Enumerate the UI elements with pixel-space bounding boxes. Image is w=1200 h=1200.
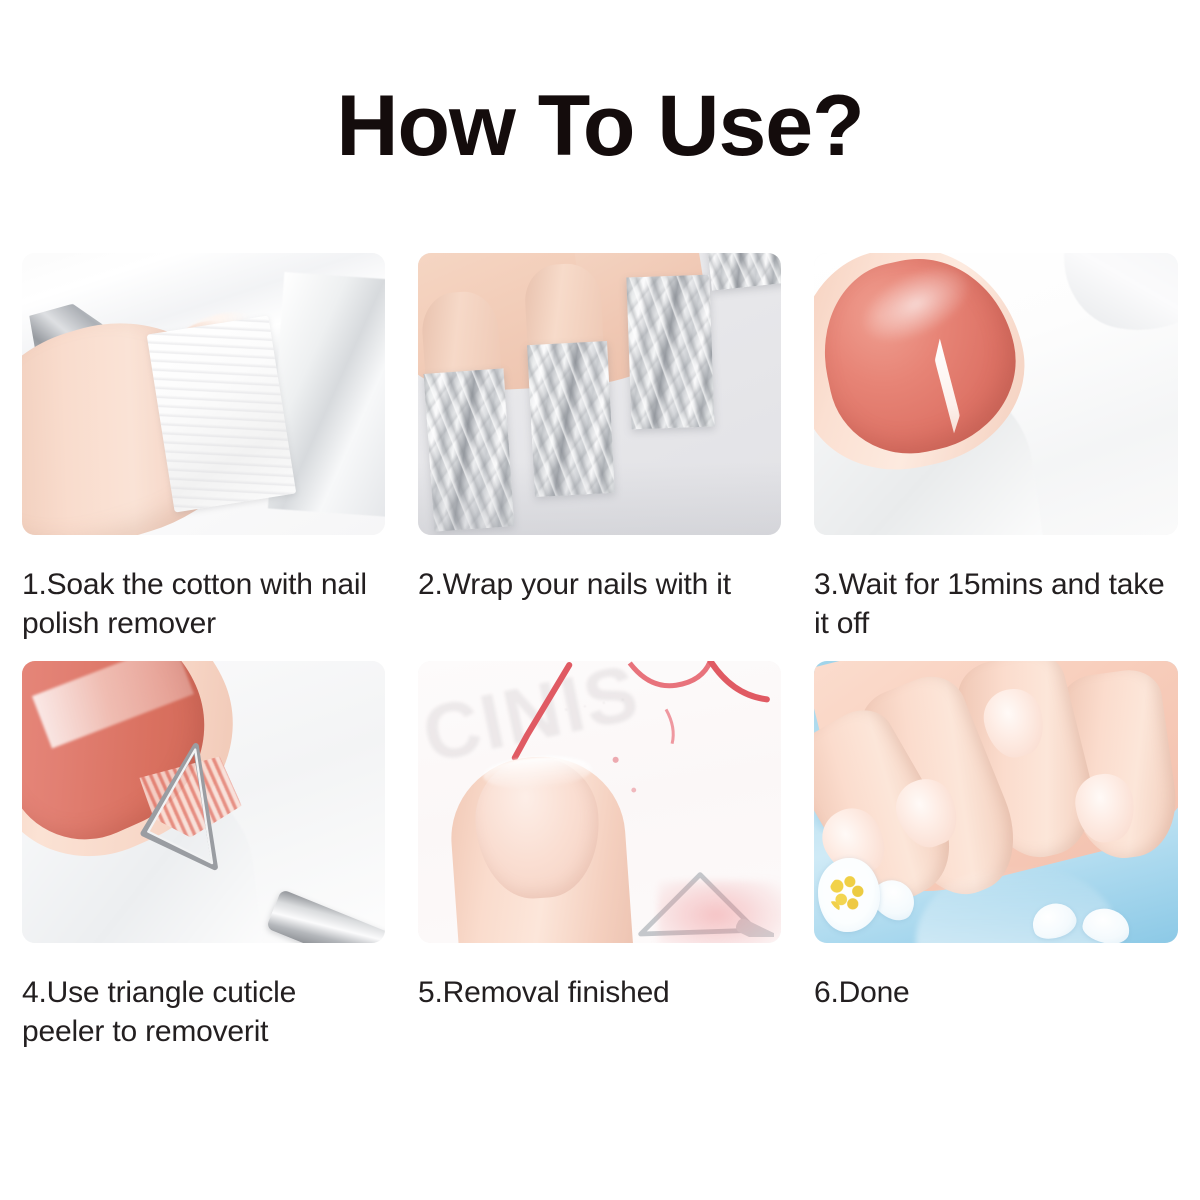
step-2-caption: 2.Wrap your nails with it xyxy=(418,565,781,643)
step-card-1: 1.Soak the cotton with nail polish remov… xyxy=(22,253,385,643)
step-6-caption: 6.Done xyxy=(814,973,1178,1051)
step-card-3: 3.Wait for 15mins and take it off xyxy=(814,253,1178,643)
step-2-photo-wrap-nails xyxy=(418,253,781,535)
how-to-use-steps-grid: 1.Soak the cotton with nail polish remov… xyxy=(22,253,1178,1051)
step-5-photo-removal-finished: CINIS · · · · xyxy=(418,661,781,943)
step-4-photo-triangle-peeler xyxy=(22,661,385,943)
triangle-peeler-head xyxy=(120,731,250,878)
step-card-5: CINIS · · · · 5.Removal finished xyxy=(418,661,781,1051)
page-title: How To Use? xyxy=(0,78,1200,174)
step-3-caption: 3.Wait for 15mins and take it off xyxy=(814,565,1178,643)
step-5-caption: 5.Removal finished xyxy=(418,973,781,1051)
flower-pollen xyxy=(829,875,865,912)
foil-wrap-4 xyxy=(705,253,781,290)
step-card-4: 4.Use triangle cuticle peeler to remover… xyxy=(22,661,385,1051)
step-1-caption: 1.Soak the cotton with nail polish remov… xyxy=(22,565,385,643)
step-card-2: 2.Wrap your nails with it xyxy=(418,253,781,643)
pink-glow xyxy=(658,881,781,943)
surface-shadow xyxy=(418,462,781,535)
step-3-photo-wait-15mins xyxy=(814,253,1178,535)
step-1-photo-soak-cotton xyxy=(22,253,385,535)
step-4-caption: 4.Use triangle cuticle peeler to remover… xyxy=(22,973,385,1051)
step-card-6: 6.Done xyxy=(814,661,1178,1051)
step-6-photo-done xyxy=(814,661,1178,943)
foil-wrap-3 xyxy=(626,274,715,429)
